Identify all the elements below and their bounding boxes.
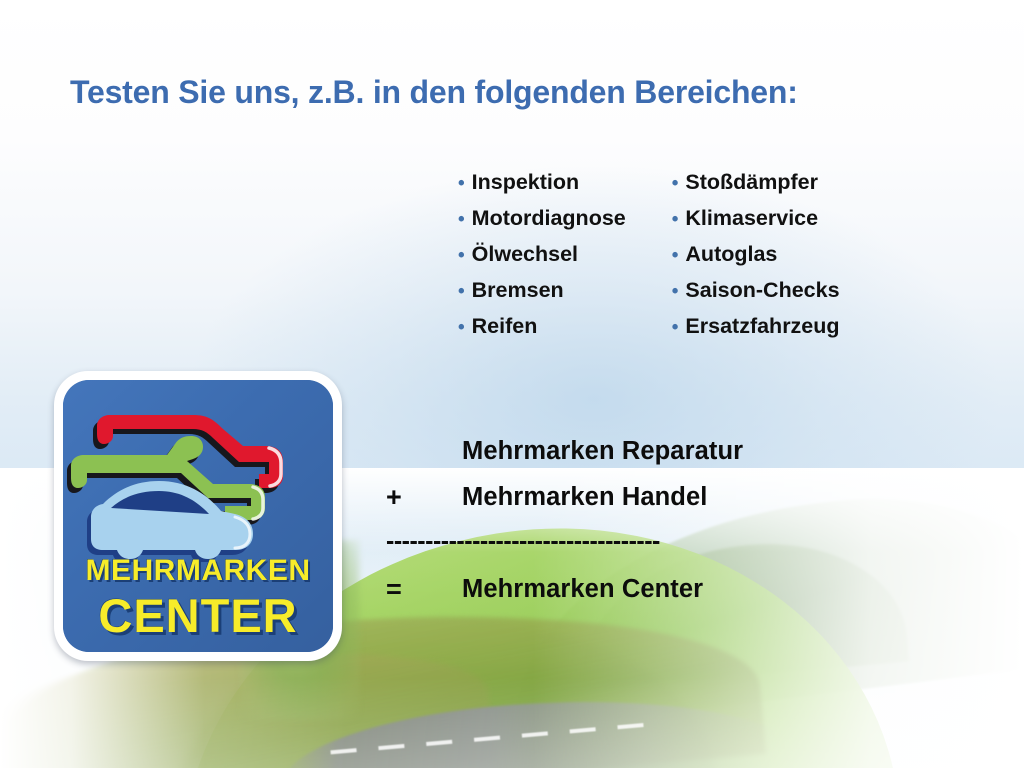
- equation-result: Mehrmarken Center: [462, 575, 703, 604]
- list-item: • Stoßdämpfer: [672, 165, 840, 201]
- equation-rule-row: -----------------------------------: [386, 520, 906, 566]
- logo-wordmark: MEHRMARKEN CENTER: [63, 556, 333, 639]
- bullet-dot-icon: •: [458, 167, 465, 201]
- slide-canvas: Testen Sie uns, z.B. in den folgenden Be…: [0, 0, 1024, 768]
- logo-word-mehrmarken: MEHRMARKEN: [63, 556, 333, 586]
- equation-row-1: Mehrmarken Reparatur: [386, 428, 906, 474]
- equation-operator-equals: =: [386, 574, 462, 605]
- bullet-dot-icon: •: [672, 203, 679, 237]
- list-item-label: Autoglas: [685, 237, 777, 271]
- three-car-silhouettes-icon: [63, 384, 333, 562]
- list-item-label: Bremsen: [472, 273, 564, 307]
- bullet-dot-icon: •: [672, 167, 679, 201]
- equation-operator-plus: +: [386, 482, 462, 513]
- bullet-dot-icon: •: [458, 311, 465, 345]
- list-item: • Inspektion: [458, 165, 626, 201]
- equation-row-2: + Mehrmarken Handel: [386, 474, 906, 520]
- logo-word-center: CENTER: [63, 592, 333, 639]
- bullet-dot-icon: •: [672, 275, 679, 309]
- list-item: • Reifen: [458, 309, 626, 345]
- equation-term: Mehrmarken Reparatur: [462, 437, 743, 466]
- services-lists: • Inspektion • Motordiagnose • Ölwechsel…: [458, 165, 840, 345]
- equation-term: Mehrmarken Handel: [462, 483, 707, 512]
- bullet-dot-icon: •: [672, 239, 679, 273]
- list-item-label: Klimaservice: [685, 201, 818, 235]
- page-title: Testen Sie uns, z.B. in den folgenden Be…: [70, 74, 798, 111]
- list-item-label: Stoßdämpfer: [685, 165, 818, 199]
- equation-divider-line: -----------------------------------: [386, 526, 891, 560]
- logo-panel: MEHRMARKEN CENTER: [63, 380, 333, 652]
- services-list-left: • Inspektion • Motordiagnose • Ölwechsel…: [458, 165, 626, 345]
- list-item: • Motordiagnose: [458, 201, 626, 237]
- list-item: • Ersatzfahrzeug: [672, 309, 840, 345]
- list-item-label: Reifen: [472, 309, 538, 343]
- equation-block: Mehrmarken Reparatur + Mehrmarken Handel…: [386, 428, 906, 612]
- mehrmarken-center-logo[interactable]: MEHRMARKEN CENTER: [54, 371, 342, 661]
- list-item-label: Ölwechsel: [472, 237, 578, 271]
- bullet-dot-icon: •: [458, 275, 465, 309]
- bullet-dot-icon: •: [458, 239, 465, 273]
- list-item: • Ölwechsel: [458, 237, 626, 273]
- list-item: • Bremsen: [458, 273, 626, 309]
- bullet-dot-icon: •: [672, 311, 679, 345]
- equation-row-3: = Mehrmarken Center: [386, 566, 906, 612]
- services-list-right: • Stoßdämpfer • Klimaservice • Autoglas …: [672, 165, 840, 345]
- list-item: • Saison-Checks: [672, 273, 840, 309]
- list-item-label: Ersatzfahrzeug: [685, 309, 839, 343]
- bullet-dot-icon: •: [458, 203, 465, 237]
- list-item-label: Inspektion: [472, 165, 580, 199]
- list-item: • Autoglas: [672, 237, 840, 273]
- list-item: • Klimaservice: [672, 201, 840, 237]
- list-item-label: Saison-Checks: [685, 273, 839, 307]
- list-item-label: Motordiagnose: [472, 201, 626, 235]
